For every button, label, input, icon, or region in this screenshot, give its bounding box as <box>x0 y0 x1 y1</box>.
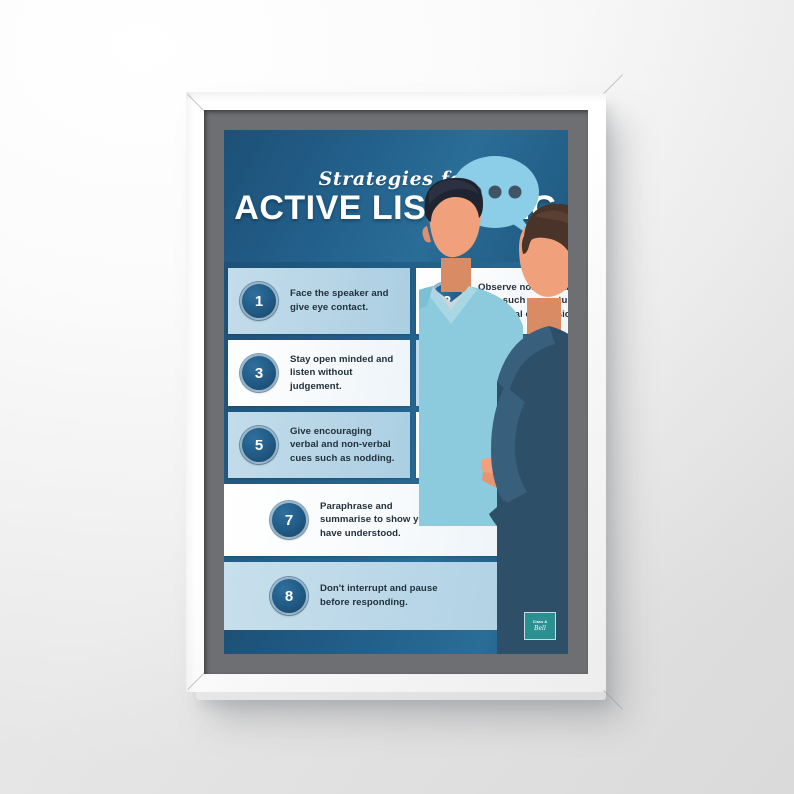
strategy-row-7: 7 Paraphrase and summarise to show you h… <box>224 484 568 556</box>
strategy-cell-1: 1 Face the speaker and give eye contact. <box>228 268 410 334</box>
strategy-number-7: 7 <box>270 501 308 539</box>
strategy-number-1: 1 <box>240 282 278 320</box>
strategy-cell-5: 5 Give encouraging verbal and non-verbal… <box>228 412 410 478</box>
strategy-text-2: Observe non-verbal cues such as gestures… <box>478 281 568 322</box>
strategy-text-1: Face the speaker and give eye contact. <box>290 287 400 314</box>
frame-rebate: Strategies for ACTIVE LISTENING 1 Face t… <box>204 110 588 674</box>
screenshot-stage: Strategies for ACTIVE LISTENING 1 Face t… <box>0 0 794 794</box>
strategy-cell-2: 2 Observe non-verbal cues such as gestur… <box>416 268 568 334</box>
strategy-number-4: 4 <box>428 354 466 392</box>
header-script-line: Strategies for <box>319 168 474 190</box>
poster-inner: Strategies for ACTIVE LISTENING 1 Face t… <box>224 130 568 654</box>
strategy-text-8: Don't interrupt and pause before respond… <box>320 582 440 609</box>
strategy-cell-6: 6 Ask questions to show your interest. <box>416 412 568 478</box>
logo-line-2: Bell <box>534 625 546 632</box>
strategy-text-7: Paraphrase and summarise to show you hav… <box>320 500 440 541</box>
strategy-number-3: 3 <box>240 354 278 392</box>
logo-line-1: Class & <box>533 620 548 624</box>
strategy-row-8: 8 Don't interrupt and pause before respo… <box>224 562 568 630</box>
strategy-cell-4: 4 Don't start planning what to say next. <box>416 340 568 406</box>
page-title: ACTIVE LISTENING <box>234 191 557 225</box>
strategy-number-8: 8 <box>270 577 308 615</box>
strategy-text-3: Stay open minded and listen without judg… <box>290 353 400 394</box>
strategy-text-5: Give encouraging verbal and non-verbal c… <box>290 425 400 466</box>
strategy-cell-3: 3 Stay open minded and listen without ju… <box>228 340 410 406</box>
strategy-text-4: Don't start planning what to say next. <box>478 359 568 386</box>
strategy-number-5: 5 <box>240 426 278 464</box>
logo-badge: Class & Bell <box>524 612 556 640</box>
strategy-number-6: 6 <box>428 426 466 464</box>
strategy-text-6: Ask questions to show your interest. <box>478 431 568 458</box>
picture-frame: Strategies for ACTIVE LISTENING 1 Face t… <box>186 92 606 692</box>
poster-header: Strategies for ACTIVE LISTENING <box>224 130 568 262</box>
strategy-number-2: 2 <box>428 282 466 320</box>
poster-bottom-band <box>224 630 568 654</box>
poster-artwork: Strategies for ACTIVE LISTENING 1 Face t… <box>224 130 568 654</box>
